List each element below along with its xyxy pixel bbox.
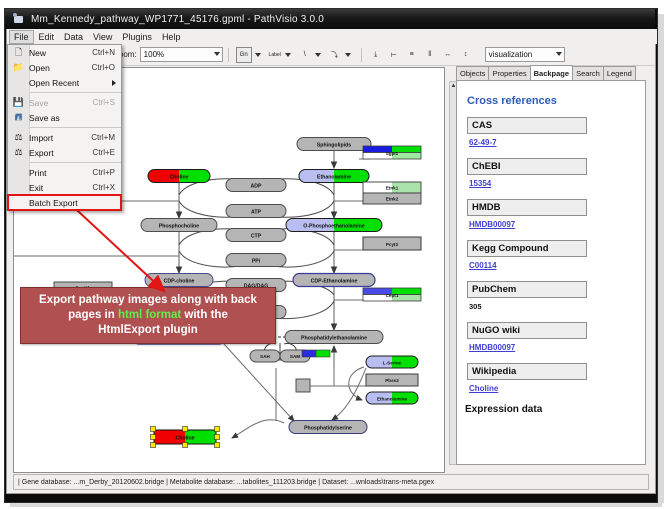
- node-o-phosphoethanolamine[interactable]: O-Phosphoethanolamine: [286, 219, 382, 232]
- svg-text:PPi: PPi: [252, 258, 261, 264]
- node-ethanolamine[interactable]: Ethanolamine: [299, 170, 369, 183]
- xref-db-wikipedia: Wikipedia: [467, 363, 587, 380]
- menu-item-save-label: Save: [29, 98, 93, 108]
- menu-separator-1: [29, 92, 121, 93]
- xref-link-chebi[interactable]: 15354: [469, 179, 491, 188]
- annotation-callout: Export pathway images along with back pa…: [20, 287, 276, 344]
- node-choline-selected[interactable]: Choline: [151, 427, 220, 448]
- interaction-dropdown-icon[interactable]: [345, 53, 351, 57]
- svg-text:Phosphatidylserine: Phosphatidylserine: [304, 425, 352, 431]
- node-atp[interactable]: ATP: [226, 205, 286, 218]
- stack-rows-tool-icon[interactable]: ≡: [405, 48, 419, 62]
- annotation-text: Export pathway images along with back pa…: [33, 293, 263, 338]
- node-choline[interactable]: Choline: [148, 170, 210, 183]
- xref-db-cas: CAS: [467, 117, 587, 134]
- menu-item-exit-label: Exit: [29, 183, 93, 193]
- svg-text:CTP: CTP: [251, 233, 262, 239]
- new-document-icon: 🗋: [8, 45, 29, 61]
- menu-view[interactable]: View: [88, 30, 117, 44]
- svg-text:Etnk2: Etnk2: [386, 197, 399, 202]
- svg-text:Pcyt2: Pcyt2: [386, 242, 399, 247]
- xref-link-cas[interactable]: 62-49-7: [469, 138, 497, 147]
- svg-text:CDP-Ethanolamine: CDP-Ethanolamine: [311, 278, 358, 284]
- common-width-tool-icon[interactable]: ↔: [441, 48, 455, 62]
- tab-objects[interactable]: Objects: [456, 66, 489, 81]
- xref-db-pubchem: PubChem: [467, 281, 587, 298]
- statusbar: | Gene database: ...m_Derby_20120602.bri…: [13, 474, 649, 490]
- side-panel-tabs: Objects Properties Backpage Search Legen…: [456, 67, 635, 81]
- xref-value-chebi[interactable]: 15354: [469, 179, 645, 188]
- chevron-down-icon: [214, 52, 220, 56]
- node-phosphatidylserine[interactable]: Phosphatidylserine: [289, 421, 367, 434]
- node-phosphocholine[interactable]: Phosphocholine: [141, 219, 217, 232]
- menu-item-import[interactable]: ⚖ Import Ctrl+M: [8, 130, 121, 145]
- menu-item-open-recent[interactable]: Open Recent: [8, 75, 121, 90]
- svg-text:Sphingolipids: Sphingolipids: [317, 142, 351, 148]
- svg-text:Ethanolamine: Ethanolamine: [377, 396, 408, 401]
- xref-link-hmdb[interactable]: HMDB00097: [469, 220, 515, 229]
- cross-references-heading: Cross references: [467, 95, 645, 107]
- statusbar-text: | Gene database: ...m_Derby_20120602.bri…: [14, 479, 434, 486]
- svg-text:Etnk1: Etnk1: [386, 186, 399, 191]
- menu-item-save-as-label: Save as: [29, 113, 115, 123]
- node-ethanolamine-2[interactable]: Ethanolamine: [366, 392, 418, 404]
- toolbar-separator: [228, 48, 229, 62]
- svg-text:L-Serine: L-Serine: [383, 360, 402, 365]
- visualization-combobox[interactable]: visualization: [485, 47, 565, 62]
- gene-etnk2[interactable]: Etnk2: [363, 193, 421, 204]
- gene-product-dropdown-icon[interactable]: [255, 53, 261, 57]
- screenshot-root: Mm_Kennedy_pathway_WP1771_45176.gpml - P…: [0, 0, 670, 509]
- svg-text:CDP-choline: CDP-choline: [164, 278, 195, 284]
- window-title: Mm_Kennedy_pathway_WP1771_45176.gpml - P…: [31, 14, 324, 25]
- xref-db-hmdb: HMDB: [467, 199, 587, 216]
- node-adp[interactable]: ADP: [226, 179, 286, 192]
- menu-item-new[interactable]: 🗋 New Ctrl+N: [8, 45, 121, 60]
- menu-item-batch-export-label: Batch Export: [29, 198, 115, 208]
- svg-text:O-Phosphoethanolamine: O-Phosphoethanolamine: [303, 223, 365, 229]
- annotation-line1: Export pathway images along with back: [39, 294, 257, 306]
- label-dropdown-icon[interactable]: [285, 53, 291, 57]
- gene-pcyt2[interactable]: Pcyt2: [363, 237, 421, 250]
- node-ppi[interactable]: PPi: [226, 254, 286, 267]
- gene-etnk1[interactable]: Etnk1: [363, 182, 421, 193]
- menu-plugins[interactable]: Plugins: [117, 30, 157, 44]
- menu-item-save-accel: Ctrl+S: [93, 98, 121, 107]
- gene-pbss2[interactable]: Pbss2: [366, 374, 418, 386]
- menu-file[interactable]: File: [9, 30, 34, 44]
- svg-text:SAH: SAH: [260, 354, 270, 359]
- menu-item-open-accel: Ctrl+O: [92, 63, 121, 72]
- svg-text:Phosphocholine: Phosphocholine: [159, 223, 199, 229]
- menu-item-batch-export[interactable]: Batch Export: [8, 195, 121, 210]
- anchor-box: [296, 379, 310, 392]
- xref-value-kegg[interactable]: C00114: [469, 261, 645, 270]
- tab-backpage[interactable]: Backpage: [530, 65, 573, 81]
- xref-link-wikipedia[interactable]: Choline: [469, 384, 498, 393]
- menu-item-save-as[interactable]: 🖪 Save as: [8, 110, 121, 125]
- tab-search[interactable]: Search: [572, 66, 604, 81]
- chevron-down-icon: [556, 52, 562, 56]
- line-tool-icon[interactable]: \: [298, 48, 312, 62]
- align-left-tool-icon[interactable]: ⊢: [387, 48, 401, 62]
- menu-item-print-accel: Ctrl+P: [93, 168, 121, 177]
- xref-value-hmdb[interactable]: HMDB00097: [469, 220, 645, 229]
- menu-item-open-recent-label: Open Recent: [29, 78, 115, 88]
- gene-sgpl1[interactable]: Sgpl1: [363, 146, 421, 159]
- node-sphingolipids[interactable]: Sphingolipids: [297, 138, 371, 151]
- menu-item-new-label: New: [29, 48, 92, 58]
- menu-item-new-accel: Ctrl+N: [92, 48, 121, 57]
- menubar: File Edit Data View Plugins Help: [7, 29, 657, 44]
- annotation-highlight: html format: [118, 309, 181, 321]
- legend-swatch: [302, 350, 330, 357]
- import-icon: ⚖: [8, 132, 29, 143]
- annotation-line2a: pages in: [68, 309, 118, 321]
- visualization-value: visualization: [489, 50, 533, 59]
- xref-link-kegg[interactable]: C00114: [469, 261, 497, 270]
- svg-text:Sgpl1: Sgpl1: [386, 151, 399, 156]
- save-disk-icon: 💾: [8, 97, 29, 108]
- stack-columns-tool-icon[interactable]: ‖: [423, 48, 437, 62]
- xref-value-cas[interactable]: 62-49-7: [469, 138, 645, 147]
- tab-properties[interactable]: Properties: [488, 66, 530, 81]
- file-menu-dropdown: 🗋 New Ctrl+N 📁 Open Ctrl+O Open Recent 💾…: [7, 44, 122, 211]
- xref-value-wikipedia[interactable]: Choline: [469, 384, 645, 393]
- tab-legend[interactable]: Legend: [603, 66, 636, 81]
- xref-value-pubchem: 305: [469, 302, 645, 311]
- node-l-serine[interactable]: L-Serine: [366, 356, 418, 368]
- menu-item-exit-accel: Ctrl+X: [93, 183, 121, 192]
- node-sah[interactable]: SAH: [250, 350, 280, 362]
- svg-text:SAM: SAM: [290, 354, 300, 359]
- zoom-combobox[interactable]: 100%: [140, 47, 223, 62]
- menu-item-import-accel: Ctrl+M: [91, 133, 121, 142]
- zoom-value: 100%: [144, 50, 164, 59]
- line-dropdown-icon[interactable]: [315, 53, 321, 57]
- xref-db-chebi: ChEBI: [467, 158, 587, 175]
- menu-item-open-label: Open: [29, 63, 92, 73]
- gene-cept1[interactable]: Cept1: [363, 288, 421, 301]
- gene-product-tool-icon[interactable]: Gn: [236, 47, 252, 63]
- svg-text:Choline: Choline: [175, 435, 194, 441]
- toolbar-separator-2: [361, 48, 362, 62]
- open-folder-icon: 📁: [8, 62, 29, 73]
- menu-item-export-label: Export: [29, 148, 93, 158]
- menu-item-exit[interactable]: Exit Ctrl+X: [8, 180, 121, 195]
- xref-link-nugo[interactable]: HMDB00097: [469, 343, 515, 352]
- svg-text:ADP: ADP: [251, 183, 262, 189]
- xref-value-nugo[interactable]: HMDB00097: [469, 343, 645, 352]
- menu-item-open[interactable]: 📁 Open Ctrl+O: [8, 60, 121, 75]
- interaction-tool-icon[interactable]: ⤵: [328, 48, 342, 62]
- label-tool-icon[interactable]: Label: [268, 48, 282, 62]
- menu-separator-3: [29, 162, 121, 163]
- node-cdp-choline[interactable]: CDP-choline: [145, 274, 213, 287]
- save-as-icon: 🖪: [8, 110, 29, 126]
- backpage-content: Cross references CAS 62-49-7 ChEBI 15354…: [456, 80, 646, 465]
- annotation-line2b: with the: [181, 309, 228, 321]
- menu-item-print-label: Print: [29, 168, 93, 178]
- node-cdp-ethanolamine[interactable]: CDP-Ethanolamine: [293, 274, 375, 287]
- svg-text:Pbss2: Pbss2: [385, 378, 399, 383]
- align-top-tool-icon[interactable]: ⤓: [369, 48, 383, 62]
- menu-separator-2: [29, 127, 121, 128]
- svg-text:Choline: Choline: [169, 174, 188, 180]
- menu-item-save: 💾 Save Ctrl+S: [8, 95, 121, 110]
- common-height-tool-icon[interactable]: ↕: [459, 48, 473, 62]
- node-phosphatidylethanolamine[interactable]: Phosphatidylethanolamine: [285, 331, 383, 344]
- menu-edit[interactable]: Edit: [34, 30, 60, 44]
- export-icon: ⚖: [8, 147, 29, 158]
- annotation-line3: HtmlExport plugin: [98, 324, 198, 336]
- svg-text:Phosphatidylethanolamine: Phosphatidylethanolamine: [301, 335, 367, 341]
- menu-item-import-label: Import: [29, 133, 91, 143]
- menu-item-export[interactable]: ⚖ Export Ctrl+E: [8, 145, 121, 160]
- xref-db-nugo: NuGO wiki: [467, 322, 587, 339]
- menu-data[interactable]: Data: [59, 30, 88, 44]
- menu-item-print[interactable]: Print Ctrl+P: [8, 165, 121, 180]
- svg-text:Ethanolamine: Ethanolamine: [317, 174, 351, 180]
- menu-help[interactable]: Help: [157, 30, 186, 44]
- svg-text:ATP: ATP: [251, 209, 262, 215]
- xref-db-kegg: Kegg Compound: [467, 240, 587, 257]
- node-ctp[interactable]: CTP: [226, 229, 286, 242]
- svg-text:Cept1: Cept1: [386, 293, 399, 298]
- side-panel: ▲ Objects Properties Backpage Search Leg…: [449, 67, 649, 471]
- expression-data-heading: Expression data: [465, 404, 645, 415]
- pathvisio-app-icon: [13, 13, 25, 25]
- menu-item-export-accel: Ctrl+E: [93, 148, 121, 157]
- window-titlebar: Mm_Kennedy_pathway_WP1771_45176.gpml - P…: [5, 9, 655, 29]
